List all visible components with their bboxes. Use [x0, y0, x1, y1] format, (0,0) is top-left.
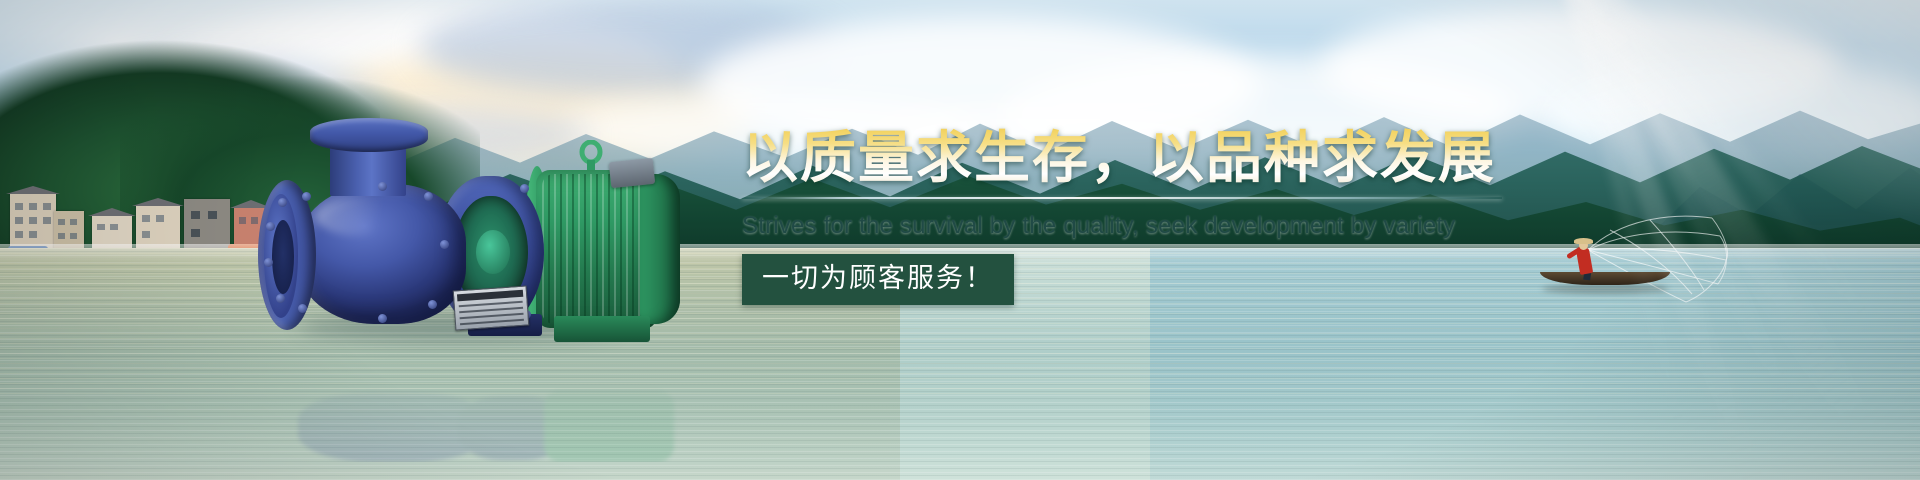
pump-suction-flange: [310, 118, 428, 152]
flange-bolt: [266, 222, 275, 231]
flange-bolt: [302, 192, 311, 201]
flange-bolt: [264, 258, 273, 267]
motor-bolt: [520, 184, 529, 193]
casing-bolt: [428, 300, 437, 309]
pump-shaft: [476, 230, 510, 274]
banner-text-block: 以质量求生存，以品种求发展 Strives for the survival b…: [742, 128, 1522, 318]
casing-bolt: [424, 192, 433, 201]
centrifugal-pump-product: [258, 118, 708, 368]
nameplate-line: [460, 319, 524, 325]
boat-shadow: [1542, 284, 1668, 294]
pump-casing-highlight: [316, 198, 406, 236]
reflection-shape: [544, 390, 674, 462]
nameplate-line: [459, 307, 523, 313]
casing-bolt: [440, 240, 449, 249]
nameplate-header: [457, 290, 523, 302]
banner-tagline-badge: 一切为顾客服务！: [742, 254, 1014, 305]
motor-base-foot: [554, 316, 650, 342]
motor-junction-box: [609, 158, 655, 188]
headline-divider: [742, 197, 1502, 199]
pump-flange-bore: [272, 220, 294, 294]
nameplate-line: [459, 301, 523, 307]
pump-nameplate: [453, 285, 530, 330]
flange-bolt: [278, 198, 287, 207]
banner-subtitle: Strives for the survival by the quality,…: [742, 213, 1522, 239]
hero-banner: 以质量求生存，以品种求发展 Strives for the survival b…: [0, 0, 1920, 480]
nameplate-line: [460, 313, 524, 319]
fisherman-scene: [1480, 210, 1780, 310]
motor-cooling-fins: [542, 174, 650, 324]
flange-bolt: [276, 294, 285, 303]
flange-bolt: [298, 304, 307, 313]
banner-headline: 以质量求生存，以品种求发展: [742, 128, 1522, 187]
lifting-eye-icon: [576, 140, 606, 174]
casing-bolt: [378, 314, 387, 323]
motor-end-bell: [640, 174, 680, 324]
casing-bolt: [378, 182, 387, 191]
fishing-net-icon: [1480, 210, 1780, 310]
fisherman-hat: [1574, 238, 1593, 244]
pump-water-reflection: [258, 352, 708, 462]
